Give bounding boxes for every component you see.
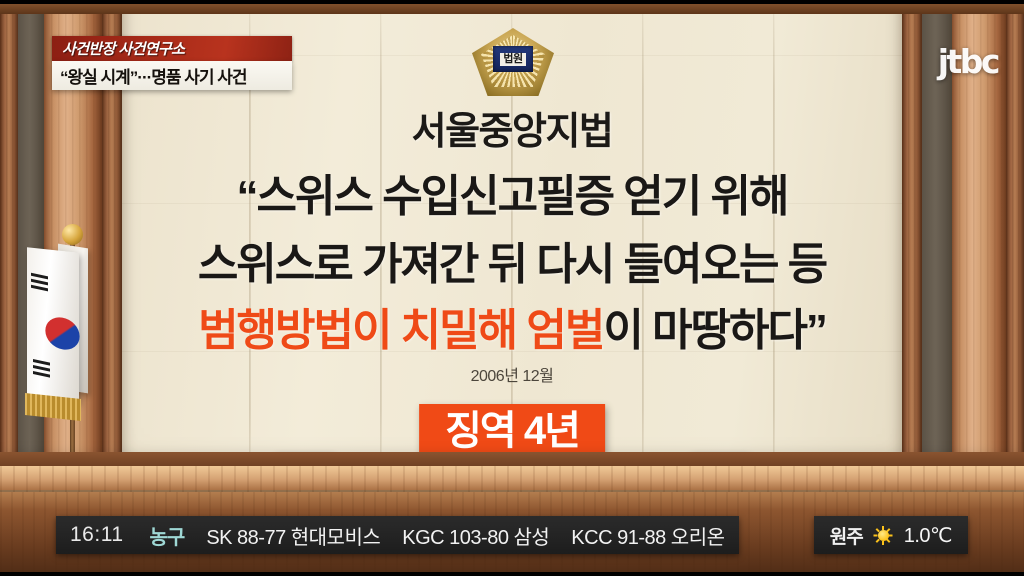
broadcast-screenshot: 법원 사건반장 사건연구소 “왕실 시계”···명품 사기 사건 jtbc 서울… bbox=[0, 0, 1024, 576]
program-title: 사건반장 사건연구소 bbox=[62, 38, 184, 59]
weather-city: 원주 bbox=[830, 522, 863, 549]
flag-fringe bbox=[25, 393, 81, 421]
ticker-score-2: KGC 103-80 삼성 bbox=[402, 521, 571, 550]
quote-line-2: 스위스로 가져간 뒤 다시 들여오는 등 bbox=[0, 228, 1024, 292]
verdict-text: 징역 4년 bbox=[445, 409, 579, 453]
program-title-bar: 사건반장 사건연구소 bbox=[52, 36, 292, 61]
ruling-date: 2006년 12월 bbox=[0, 362, 1024, 386]
quote-highlight: 범행방법이 치밀해 엄벌 bbox=[198, 306, 603, 355]
program-banner: 사건반장 사건연구소 “왕실 시계”···명품 사기 사건 bbox=[52, 36, 292, 90]
jtbc-logo: jtbc bbox=[938, 42, 998, 81]
letterbox-top bbox=[0, 0, 1024, 4]
news-ticker: 16:11 농구 SK 88-77 현대모비스 KGC 103-80 삼성 KC… bbox=[56, 516, 739, 554]
letterbox-bottom bbox=[0, 572, 1024, 576]
ticker-sport-label: 농구 bbox=[150, 521, 207, 550]
court-name-title: 서울중앙지법 bbox=[0, 100, 1024, 155]
weather-temperature: 1.0℃ bbox=[904, 523, 952, 548]
ticker-score-1: SK 88-77 현대모비스 bbox=[206, 521, 402, 550]
ticker-score-3: KCC 91-88 오리온 bbox=[571, 521, 724, 550]
sun-icon bbox=[874, 526, 893, 545]
quote-line-3-rest: 이 마땅하다” bbox=[603, 306, 826, 355]
headline-bar: “왕실 시계”···명품 사기 사건 bbox=[52, 61, 292, 90]
court-emblem-label: 법원 bbox=[500, 53, 525, 66]
court-emblem: 법원 bbox=[472, 28, 554, 96]
quote-line-1: “스위스 수입신고필증 얻기 위해 bbox=[0, 160, 1024, 224]
quote-line-3: 범행방법이 치밀해 엄벌이 마땅하다” bbox=[0, 294, 1024, 358]
ticker-clock: 16:11 bbox=[70, 523, 150, 547]
headline-text: “왕실 시계”···명품 사기 사건 bbox=[60, 63, 247, 88]
weather-widget: 원주 1.0℃ bbox=[814, 516, 968, 554]
